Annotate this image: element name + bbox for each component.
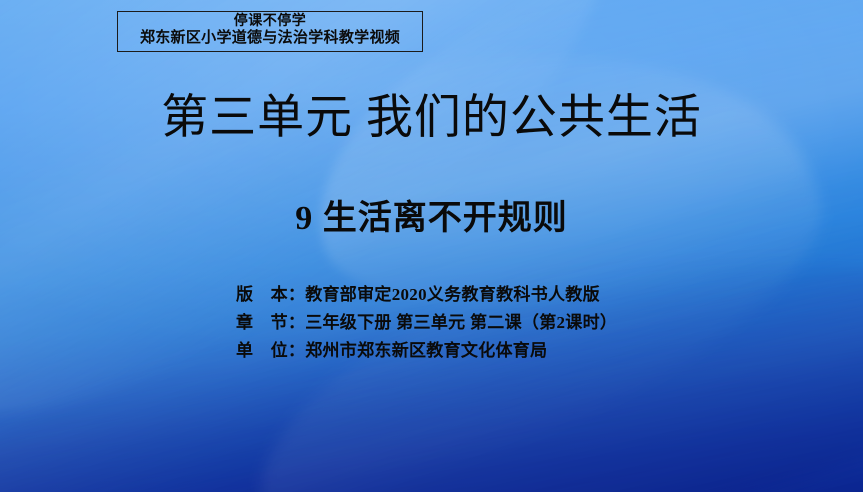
- metadata-block: 版 本：教育部审定2020义务教育教科书人教版 章 节：三年级下册 第三单元 第…: [236, 281, 617, 365]
- banner-line-campaign: 停课不停学: [118, 14, 422, 30]
- program-banner-box: 停课不停学 郑东新区小学道德与法治学科教学视频: [117, 11, 423, 52]
- metadata-row-organization: 单 位：郑州市郑东新区教育文化体育局: [236, 337, 617, 365]
- lesson-title: 9 生活离不开规则: [0, 190, 863, 239]
- background-highlight-overlay: [0, 0, 863, 492]
- unit-title: 第三单元 我们的公共生活: [0, 78, 863, 147]
- presentation-slide: 停课不停学 郑东新区小学道德与法治学科教学视频 第三单元 我们的公共生活 9 生…: [0, 0, 863, 492]
- decorative-swoosh-band-upper-left: [0, 0, 708, 492]
- metadata-row-version: 版 本：教育部审定2020义务教育教科书人教版: [236, 281, 617, 309]
- metadata-row-chapter: 章 节：三年级下册 第三单元 第二课（第2课时）: [236, 309, 617, 337]
- decorative-swoosh-band-middle-left: [0, 0, 863, 492]
- banner-line-series: 郑东新区小学道德与法治学科教学视频: [118, 30, 422, 47]
